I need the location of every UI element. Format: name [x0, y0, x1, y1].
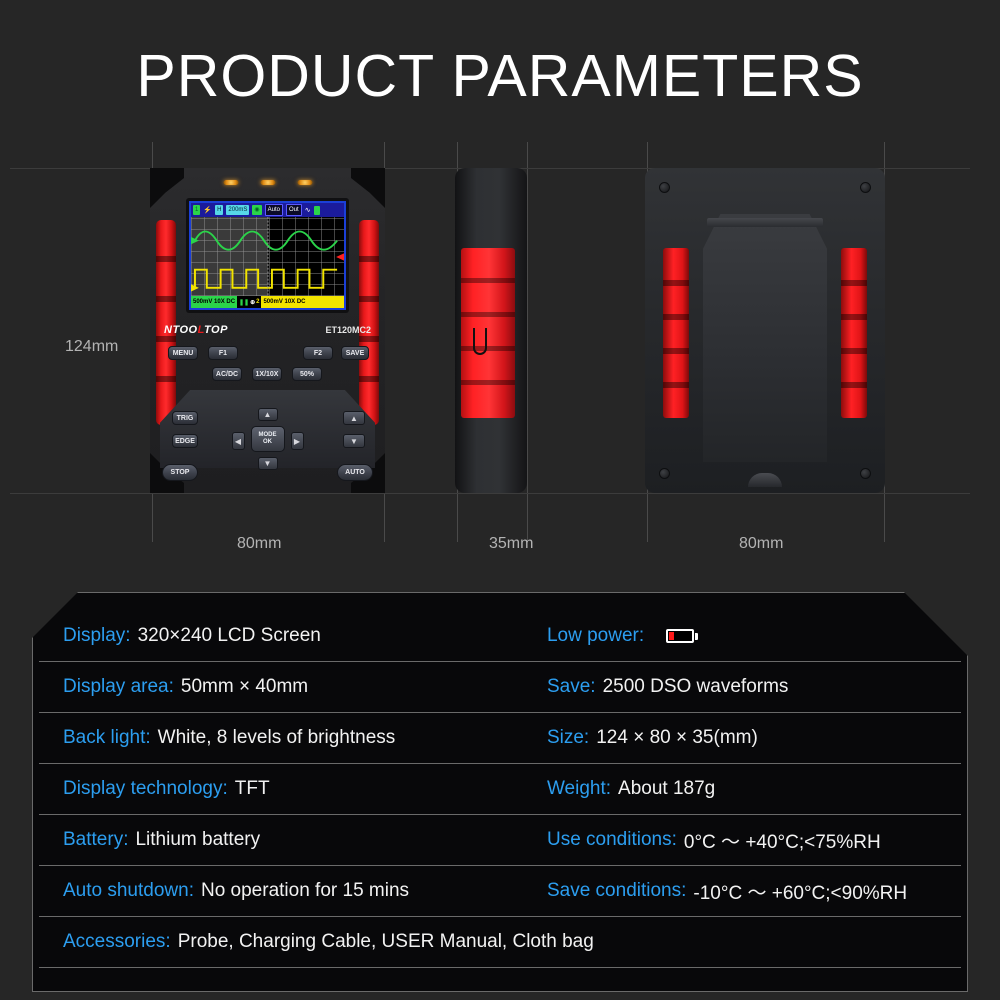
dpad: ▲ ▼ ◀ ▶ MODE OK	[232, 408, 304, 470]
spec-cell-weight: Weight: About 187g	[517, 764, 967, 814]
edge-button[interactable]: EDGE	[172, 434, 198, 448]
screw-icon	[860, 182, 871, 193]
spec-value: No operation for 15 mins	[201, 880, 409, 902]
attenuation-button[interactable]: 1X/10X	[252, 367, 282, 381]
vertical-down-button[interactable]: ▼	[343, 434, 365, 448]
lcd-channel-indicator: 1	[193, 205, 200, 215]
spec-key: Weight:	[547, 778, 611, 800]
pause-icon: ❚❚	[239, 299, 249, 306]
back-grip-left	[663, 248, 689, 418]
spec-key: Low power:	[547, 625, 644, 647]
back-grip-right	[841, 248, 867, 418]
spec-row: Auto shutdown: No operation for 15 mins …	[33, 866, 967, 916]
led-indicator	[297, 180, 312, 185]
screw-icon	[860, 468, 871, 479]
brand-logo: NTOOLTOP	[164, 324, 228, 336]
spec-row: Accessories: Probe, Charging Cable, USER…	[33, 917, 967, 967]
low-battery-icon	[666, 629, 698, 643]
channel1-marker-icon	[191, 237, 199, 244]
specifications-grid: Display: 320×240 LCD Screen Low power: D…	[33, 611, 967, 968]
button-row-primary-left: MENU F1	[168, 346, 238, 360]
lcd-ch2-number: 2	[256, 299, 259, 305]
mode-ok-button[interactable]: MODE OK	[251, 426, 285, 452]
auto-button[interactable]: AUTO	[337, 464, 373, 481]
button-row-primary-right: F2 SAVE	[303, 346, 369, 360]
battery-icon	[314, 206, 320, 215]
spec-cell-save-conditions: Save conditions: -10°C ～ +60°C;<90%RH	[517, 866, 967, 916]
lcd-ch2-settings: 500mV 10X DC	[261, 296, 344, 308]
spec-key: Save:	[547, 676, 596, 698]
dpad-right-button[interactable]: ▶	[291, 432, 304, 450]
brand-bar: NTOOLTOP ET120MC2	[164, 320, 371, 340]
page-title: PRODUCT PARAMETERS	[0, 42, 1000, 110]
trigger-icon: ◉	[252, 205, 261, 215]
spec-key: Accessories:	[63, 931, 171, 953]
spec-key: Display area:	[63, 676, 174, 698]
dimension-height-label: 124mm	[65, 338, 118, 356]
spec-row: Display: 320×240 LCD Screen Low power:	[33, 611, 967, 661]
led-indicator-row	[223, 180, 312, 185]
lcd-timebase-prefix: H	[215, 205, 223, 215]
spec-row: Display technology: TFT Weight: About 18…	[33, 764, 967, 814]
spec-cell-accessories: Accessories: Probe, Charging Cable, USER…	[33, 917, 967, 967]
mode-ok-line1: MODE	[259, 432, 277, 439]
specifications-panel: Display: 320×240 LCD Screen Low power: D…	[32, 592, 968, 992]
spec-cell-auto-shutdown: Auto shutdown: No operation for 15 mins	[33, 866, 517, 916]
stop-button[interactable]: STOP	[162, 464, 198, 481]
f1-button[interactable]: F1	[208, 346, 238, 360]
dpad-left-button[interactable]: ◀	[232, 432, 245, 450]
spec-value: 0°C ～ +40°C;<75%RH	[684, 827, 881, 854]
acdc-button[interactable]: AC/DC	[212, 367, 242, 381]
screw-icon	[659, 182, 670, 193]
kickstand-plate	[703, 214, 827, 462]
vertical-up-button[interactable]: ▲	[343, 411, 365, 425]
screw-icon	[659, 468, 670, 479]
row-divider	[39, 967, 961, 968]
lcd-screen: 1 ⚡ H 200mS ◉ Auto Out ∿	[189, 201, 346, 310]
dimension-depth-label: 35mm	[489, 535, 533, 553]
spec-cell-battery: Battery: Lithium battery	[33, 815, 517, 865]
led-indicator	[260, 180, 275, 185]
product-parameters-page: PRODUCT PARAMETERS 124mm 80mm 35mm 80mm	[0, 0, 1000, 1000]
spec-cell-display: Display: 320×240 LCD Screen	[33, 611, 517, 661]
spec-cell-display-technology: Display technology: TFT	[33, 764, 517, 814]
lcd-output: Out	[286, 204, 302, 216]
spec-key: Display:	[63, 625, 131, 647]
spec-row: Battery: Lithium battery Use conditions:…	[33, 815, 967, 865]
crosshair-icon: ⊕	[250, 299, 255, 306]
spec-cell-size: Size: 124 × 80 × 35(mm)	[517, 713, 967, 763]
dimension-front-width-label: 80mm	[237, 535, 281, 553]
f2-button[interactable]: F2	[303, 346, 333, 360]
lcd-bezel: 1 ⚡ H 200mS ◉ Auto Out ∿	[186, 198, 349, 313]
spec-key: Display technology:	[63, 778, 228, 800]
side-view-grip	[461, 248, 515, 418]
lcd-channel-bar: 500mV 10X DC ❚❚ ⊕ 2 500mV 10X DC	[191, 296, 344, 308]
dpad-up-button[interactable]: ▲	[258, 408, 278, 421]
fifty-percent-button[interactable]: 50%	[292, 367, 322, 381]
lcd-waveforms	[191, 217, 344, 296]
dpad-down-button[interactable]: ▼	[258, 457, 278, 470]
spec-key: Back light:	[63, 727, 151, 749]
spec-key: Save conditions:	[547, 880, 686, 902]
spec-value: White, 8 levels of brightness	[158, 727, 396, 749]
spec-key: Battery:	[63, 829, 128, 851]
product-showcase: 124mm 80mm 35mm 80mm	[0, 130, 1000, 570]
spec-value: 124 × 80 × 35(mm)	[596, 727, 758, 749]
button-row-secondary: AC/DC 1X/10X 50%	[212, 367, 322, 381]
spec-key: Auto shutdown:	[63, 880, 194, 902]
dimension-back-width-label: 80mm	[739, 535, 783, 553]
spec-value: 2500 DSO waveforms	[603, 676, 789, 698]
spec-value: 50mm × 40mm	[181, 676, 308, 698]
lcd-ch1-settings: 500mV 10X DC	[191, 296, 237, 308]
spec-value: Lithium battery	[135, 829, 260, 851]
lcd-timebase-value: 200mS	[226, 205, 249, 215]
device-side-view	[455, 168, 527, 493]
spec-value: TFT	[235, 778, 270, 800]
lcd-waveform-area	[191, 217, 344, 296]
spec-value: -10°C ～ +60°C;<90%RH	[693, 878, 907, 905]
spec-cell-use-conditions: Use conditions: 0°C ～ +40°C;<75%RH	[517, 815, 967, 865]
waveform-icon: ∿	[305, 206, 311, 214]
guide-line-v4	[527, 142, 528, 542]
lcd-status-bar: 1 ⚡ H 200mS ◉ Auto Out ∿	[191, 203, 344, 217]
device-front-view: 1 ⚡ H 200mS ◉ Auto Out ∿	[150, 168, 385, 493]
mode-ok-line2: OK	[263, 439, 272, 446]
spec-cell-back-light: Back light: White, 8 levels of brightnes…	[33, 713, 517, 763]
device-back-view	[645, 168, 885, 493]
spec-value: Probe, Charging Cable, USER Manual, Clot…	[178, 931, 594, 953]
sine-wave-channel1	[195, 232, 337, 250]
spec-cell-display-area: Display area: 50mm × 40mm	[33, 662, 517, 712]
belt-clip-icon	[473, 328, 487, 355]
kickstand-hinge	[707, 218, 823, 227]
spec-row: Display area: 50mm × 40mm Save: 2500 DSO…	[33, 662, 967, 712]
trig-button[interactable]: TRIG	[172, 411, 198, 425]
spec-cell-save: Save: 2500 DSO waveforms	[517, 662, 967, 712]
spec-key: Size:	[547, 727, 589, 749]
square-wave-channel2	[195, 270, 337, 288]
menu-button[interactable]: MENU	[168, 346, 198, 360]
led-indicator	[223, 180, 238, 185]
spec-row: Back light: White, 8 levels of brightnes…	[33, 713, 967, 763]
spec-value: 320×240 LCD Screen	[138, 625, 321, 647]
lightning-icon: ⚡	[203, 206, 212, 214]
trigger-level-marker-icon	[336, 253, 344, 260]
model-number: ET120MC2	[325, 325, 371, 335]
guide-line-h2	[10, 493, 970, 494]
save-button[interactable]: SAVE	[341, 346, 369, 360]
spec-key: Use conditions:	[547, 829, 677, 851]
spec-value: About 187g	[618, 778, 715, 800]
spec-cell-low-power: Low power:	[517, 611, 967, 661]
lcd-center-icons: ❚❚ ⊕ 2	[237, 296, 261, 308]
lcd-mode: Auto	[265, 204, 283, 216]
